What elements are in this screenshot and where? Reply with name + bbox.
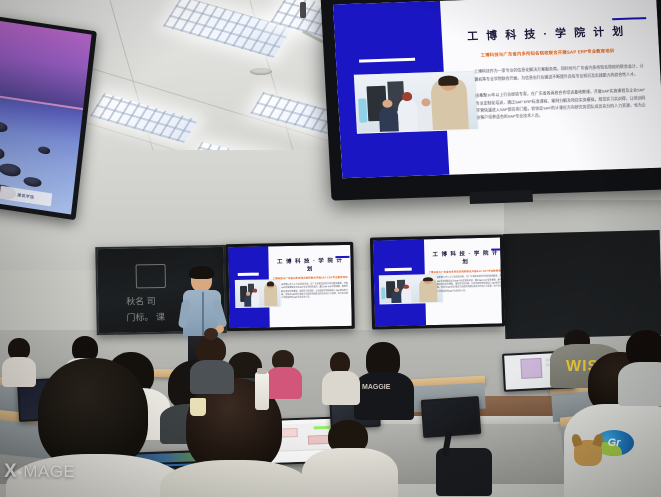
chalk-line-1: 秋名 司: [126, 294, 156, 308]
presenter-hair: [189, 266, 214, 279]
mini-slide-subtitle: 工博科技与广东省内多所知名院校联合开展SAP ERP专业教育培训: [273, 275, 348, 280]
student-hair-bun: [204, 328, 218, 340]
student-torso: [302, 448, 398, 497]
slide-title: 工 博 科 技 · 学 院 计 划: [451, 23, 642, 45]
slide-paragraph-2: 由集聚10年以上行业经验专家，在广东省各高校合作培训基地教课，开展SAP实施课程…: [454, 87, 646, 122]
mini2-slide-title: 工 博 科 技 · 学 院 计 划: [428, 249, 502, 267]
chalk-line-2: 门标。 课: [126, 310, 165, 324]
slide-title-rule: [612, 17, 647, 20]
main-presentation-tv[interactable]: 工 博 科 技 · 学 院 计 划 工博科技与广东省内多所知名院校联合开展SAP…: [321, 0, 661, 201]
mini2-slide-para: 由集聚10年以上行业经验专家，在广东省各高校合作培训基地教课，开展SAP实施课程…: [428, 276, 502, 295]
tv-wall-mount: [470, 190, 533, 204]
student-shirt-text: MAGGIE: [362, 384, 390, 391]
watermark-x: X: [4, 461, 17, 483]
wallpaper-stone: [0, 162, 21, 177]
student-torso: [160, 460, 310, 497]
lower-screen-right-content: 工 博 科 技 · 学 院 计 划 工博科技与广东省内多所知名院校联合开展SAP…: [373, 237, 502, 326]
slide-root: 工 博 科 技 · 学 院 计 划 工博科技与广东省内多所知名院校联合开展SAP…: [333, 0, 661, 178]
ceiling-light-1: [163, 0, 292, 58]
chalk-drawn-box: [136, 264, 166, 289]
cup-on-desk: [190, 398, 206, 416]
wallpaper-sky: [0, 21, 92, 111]
ceiling-camera-mount: [300, 2, 306, 18]
watermark-text: MAGE: [23, 462, 75, 482]
mini-slide-title: 工 博 科 技 · 学 院 计 划: [272, 256, 347, 273]
mini-blue-panel: [228, 246, 270, 328]
signage-logo-text: 建筑学院: [17, 192, 35, 201]
mini2-blue-panel: [373, 239, 426, 326]
student-torso: [2, 357, 36, 387]
wallpaper-stone: [0, 120, 8, 133]
ceiling-light-3: [90, 93, 199, 143]
student-torso: MAGGIE: [354, 372, 414, 420]
slide-accent-bar: [359, 57, 415, 62]
mini2-slide-subtitle: 工博科技与广东省内多所知名院校联合开展SAP ERP专业教育培训: [428, 268, 502, 274]
lower-screen-left[interactable]: 工 博 科 技 · 学 院 计 划 工博科技与广东省内多所知名院校联合开展SAP…: [225, 242, 355, 331]
signage-logo-bar: 建筑学院: [0, 186, 52, 207]
tv-screen: 工 博 科 技 · 学 院 计 划 工博科技与广东省内多所知名院校联合开展SAP…: [333, 0, 661, 178]
slide-subtitle: 工博科技与广东省内多所知名院校联合开展SAP ERP专业教育培训: [452, 47, 643, 59]
mini2-text-body: 工 博 科 技 · 学 院 计 划 工博科技与广东省内多所知名院校联合开展SAP…: [424, 237, 502, 325]
student-torso: [190, 360, 234, 394]
student-torso: [266, 367, 302, 399]
lower-screen-right[interactable]: 工 博 科 技 · 学 院 计 划 工博科技与广东省内多所知名院校联合开展SAP…: [370, 234, 505, 329]
student-torso: [618, 362, 661, 406]
slide-blue-panel: [333, 1, 449, 178]
mini-text-body: 工 博 科 技 · 学 院 计 划 工博科技与广东省内多所知名院校联合开展SAP…: [268, 245, 351, 328]
wallpaper-stone: [38, 146, 51, 155]
smoke-detector-icon: [250, 68, 272, 75]
water-bottle: [255, 372, 269, 410]
student-torso: [322, 371, 360, 405]
watermark-dot: [18, 471, 21, 474]
mini-slide-para: 由集聚10年以上行业经验专家，在广东省各高校合作培训基地教课，开展SAP实施课程…: [273, 283, 348, 301]
photo-person-1: [378, 106, 398, 132]
shirt-brand-text: Gr: [608, 437, 621, 449]
monitor-screen-dark: [423, 398, 479, 436]
photo-person-2: [397, 99, 419, 132]
blackboard-right: [503, 230, 661, 339]
water-bottle-cap: [257, 368, 267, 374]
photo-bottle: [359, 99, 367, 123]
slide-paragraph-1: 工博科技作为一家专业的信息化解决方案服务商，同时也与广东省内多所知名院校的财务会…: [453, 63, 644, 84]
lower-screen-left-content: 工 博 科 技 · 学 院 计 划 工博科技与广东省内多所知名院校联合开展SAP…: [228, 245, 352, 328]
wallpaper-stone: [23, 176, 42, 188]
camera-watermark: X MAGE: [4, 461, 75, 483]
presenter-shirt-placket: [202, 292, 204, 336]
slide-text-body: 工 博 科 技 · 学 院 计 划 工博科技与广东省内多所知名院校联合开展SAP…: [440, 0, 661, 175]
wallpaper-stone: [0, 144, 5, 161]
classroom-photo: 建筑学院: [0, 0, 661, 497]
